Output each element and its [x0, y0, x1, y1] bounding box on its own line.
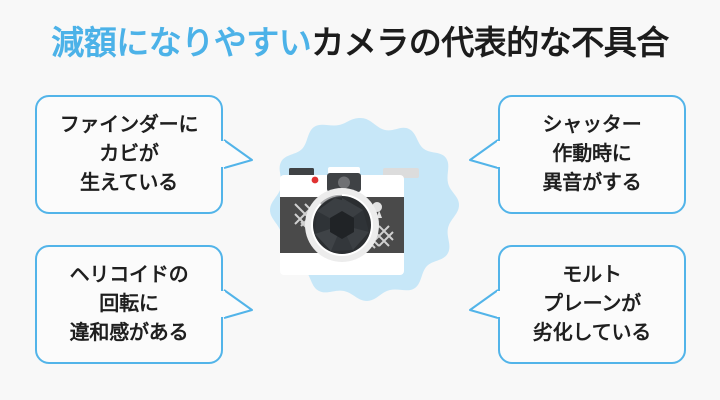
camera-hotshoe	[289, 168, 314, 176]
callout-bottom-right-text: モルト プレーンが 劣化している	[533, 261, 651, 348]
camera-illustration	[243, 110, 478, 345]
page-title-accent: 減額になりやすい	[51, 24, 311, 61]
callout-top-left[interactable]: ファインダーに カビが 生えている	[35, 95, 223, 214]
callout-top-left-text: ファインダーに カビが 生えている	[60, 111, 199, 198]
callout-bottom-left-text: ヘリコイドの 回転に 違和感がある	[70, 261, 189, 348]
page-title-plain: カメラの代表的な不具合	[311, 24, 669, 61]
page-title: 減額になりやすいカメラの代表的な不具合	[0, 22, 720, 64]
camera-indicator-dot	[312, 177, 319, 184]
camera-viewfinder-lens	[338, 177, 350, 189]
callout-top-right[interactable]: シャッター 作動時に 異音がする	[498, 95, 686, 214]
camera-body	[280, 167, 419, 275]
callout-top-right-text: シャッター 作動時に 異音がする	[543, 111, 642, 198]
infographic-canvas: 減額になりやすいカメラの代表的な不具合	[0, 0, 720, 400]
callout-bottom-left[interactable]: ヘリコイドの 回転に 違和感がある	[35, 245, 223, 364]
callout-bottom-right[interactable]: モルト プレーンが 劣化している	[498, 245, 686, 364]
